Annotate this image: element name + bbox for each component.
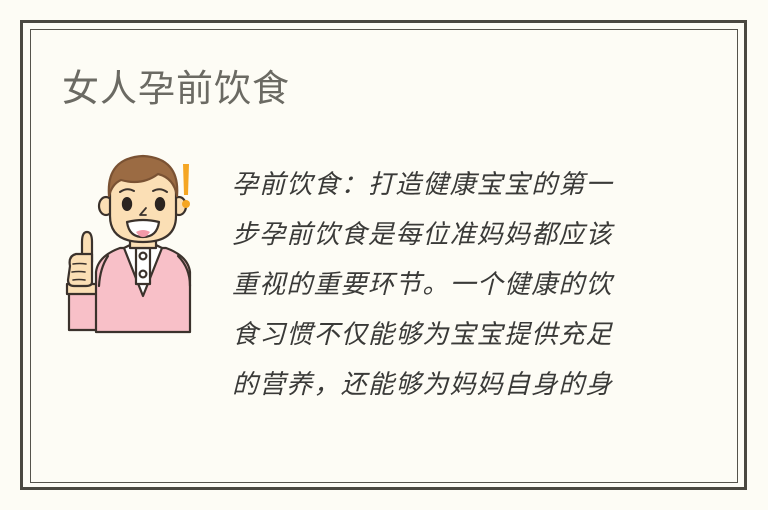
page-title: 女人孕前饮食 [62,66,290,112]
article-body: 孕前饮食：打造健康宝宝的第一 步孕前饮食是每位准妈妈都应该 重视的重要环节。一个… [232,160,650,410]
exclamation-mark-icon [178,164,194,210]
body-line: 重视的重要环节。一个健康的饮 [232,260,650,310]
body-line: 的营养，还能够为妈妈自身的身 [232,360,650,410]
body-line: 孕前饮食：打造健康宝宝的第一 [232,160,650,210]
pointing-person-illustration [58,144,206,334]
body-line: 步孕前饮食是每位准妈妈都应该 [232,210,650,260]
poster-canvas: 女人孕前饮食 [0,0,768,510]
body-line: 食习惯不仅能够为宝宝提供充足 [232,310,650,360]
